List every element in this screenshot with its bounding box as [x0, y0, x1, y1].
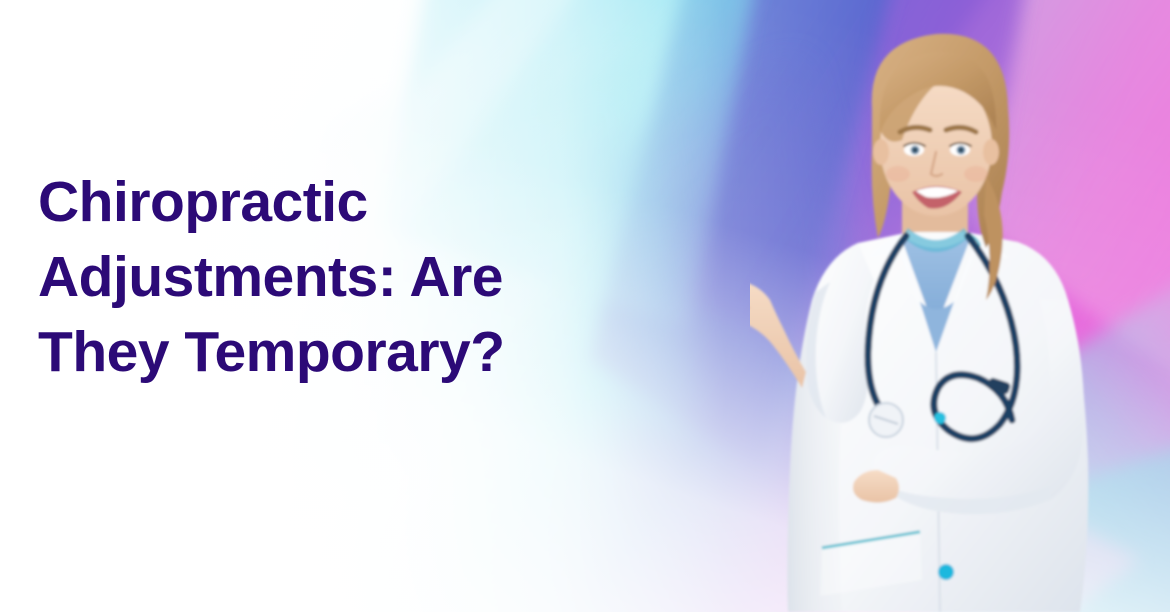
headline-line-1: Chiropractic [38, 165, 678, 240]
cheek-right [964, 166, 988, 182]
pupil-left [913, 148, 917, 152]
ear-right [983, 139, 999, 165]
doctor-photo [750, 0, 1170, 612]
coat-button-2 [938, 564, 954, 580]
coat-button-1 [934, 412, 946, 424]
headline-line-2: Adjustments: Are [38, 240, 678, 315]
open-hand [750, 280, 806, 388]
doctor-figure [750, 0, 1170, 612]
headline-line-3: They Temporary? [38, 315, 678, 390]
pupil-right [959, 148, 963, 152]
ear-left [873, 139, 889, 165]
page-title: Chiropractic Adjustments: Are They Tempo… [38, 165, 678, 390]
hero-banner: Chiropractic Adjustments: Are They Tempo… [0, 0, 1170, 612]
cheek-left [886, 166, 910, 182]
